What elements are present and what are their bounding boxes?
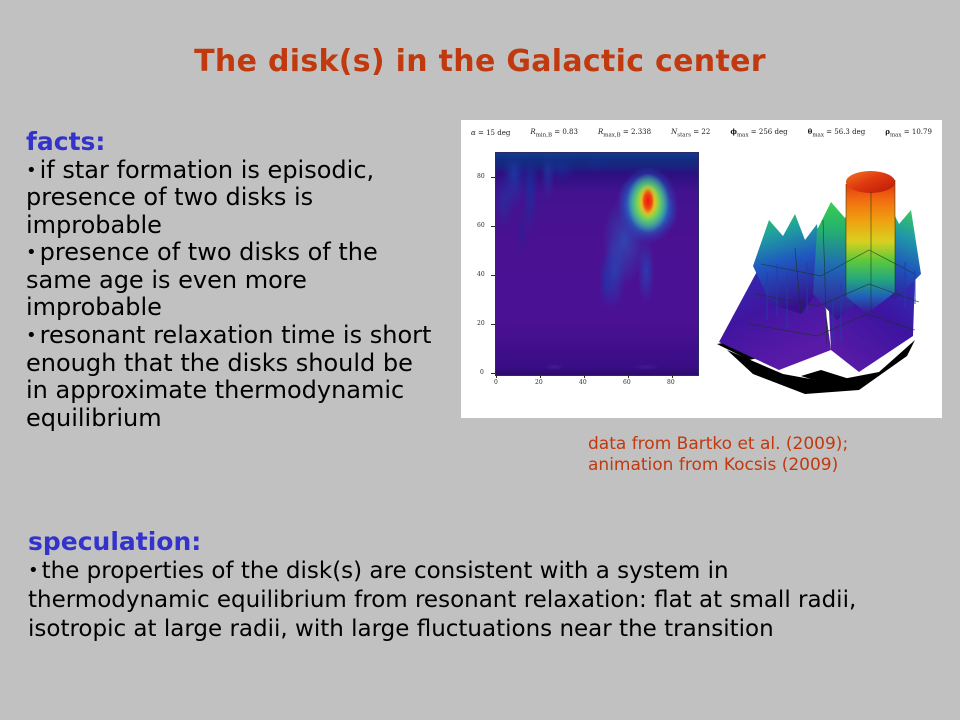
surface-peak-cap xyxy=(846,171,895,193)
parameter-value: 256 deg xyxy=(759,128,788,136)
parameter-subscript: max xyxy=(812,133,824,139)
parameter-nstars: Nstars = 22 xyxy=(671,128,710,138)
parameter-value: 10.79 xyxy=(912,128,932,136)
heatmap-bottom-ripple xyxy=(496,153,698,375)
parameter-subscript: max xyxy=(737,133,749,139)
page-title: The disk(s) in the Galactic center xyxy=(0,44,960,79)
x-tick-mark xyxy=(496,374,497,378)
parameter-subscript: max,B xyxy=(603,132,620,138)
caption-line-1: data from Bartko et al. (2009); xyxy=(588,434,918,455)
parameter-subscript: min,B xyxy=(536,132,552,138)
y-tick-mark xyxy=(491,373,495,374)
y-tick-label: 60 xyxy=(477,222,485,229)
parameter-symbol: α xyxy=(471,129,476,137)
x-tick-mark xyxy=(540,374,541,378)
x-tick-label: 40 xyxy=(579,379,587,386)
list-item: •presence of two disks of the same age i… xyxy=(26,239,436,322)
bullet-icon: • xyxy=(28,560,42,581)
speculation-bullet-list: •the properties of the disk(s) are consi… xyxy=(28,557,888,645)
speculation-heading: speculation: xyxy=(28,528,888,556)
parameter-thetamax: θmax = 56.3 deg xyxy=(808,127,866,138)
x-tick-label: 60 xyxy=(623,379,631,386)
parameter-rhomax: ρmax = 10.79 xyxy=(885,127,932,138)
heatmap-plot-area xyxy=(495,152,699,376)
surface-plot-svg xyxy=(709,144,937,410)
parameter-subscript: max xyxy=(890,133,902,139)
bullet-icon: • xyxy=(26,325,40,346)
x-tick-label: 80 xyxy=(667,379,675,386)
parameter-alpha: α = 15 deg xyxy=(471,129,510,137)
figure-caption: data from Bartko et al. (2009); animatio… xyxy=(588,434,918,477)
parameter-rmax: Rmax,B = 2.338 xyxy=(598,128,651,138)
parameter-value: 22 xyxy=(701,128,710,136)
density-heatmap: 0 20 40 60 80 0 20 40 60 80 xyxy=(474,148,706,406)
y-tick-label: 0 xyxy=(480,369,484,376)
y-tick-label: 40 xyxy=(477,271,485,278)
facts-bullet-list: •if star formation is episodic, presence… xyxy=(26,157,436,433)
surface-plot-3d xyxy=(709,144,937,410)
y-tick-mark xyxy=(491,177,495,178)
parameter-phimax: ϕmax = 256 deg xyxy=(730,127,787,138)
y-tick-label: 80 xyxy=(477,173,485,180)
y-tick-mark xyxy=(491,324,495,325)
x-tick-label: 20 xyxy=(535,379,543,386)
speculation-section: speculation: •the properties of the disk… xyxy=(28,528,888,645)
facts-section: facts: •if star formation is episodic, p… xyxy=(26,128,436,432)
caption-line-2: animation from Kocsis (2009) xyxy=(588,455,918,476)
list-item: •the properties of the disk(s) are consi… xyxy=(28,557,888,645)
x-tick-mark xyxy=(672,374,673,378)
parameter-rmin: Rmin,B = 0.83 xyxy=(530,128,578,138)
list-item-text: presence of two disks of the same age is… xyxy=(26,238,378,321)
surface-peak-column xyxy=(846,180,895,314)
list-item: •resonant relaxation time is short enoug… xyxy=(26,322,436,432)
figure-panel: α = 15 deg Rmin,B = 0.83 Rmax,B = 2.338 … xyxy=(461,120,942,418)
parameter-value: 0.83 xyxy=(562,128,578,136)
bullet-icon: • xyxy=(26,160,40,181)
parameter-value: 2.338 xyxy=(631,128,651,136)
parameter-symbol: ϕ xyxy=(730,127,737,136)
facts-heading: facts: xyxy=(26,128,436,156)
y-tick-label: 20 xyxy=(477,320,485,327)
x-tick-mark xyxy=(628,374,629,378)
parameter-value: 56.3 deg xyxy=(834,128,865,136)
parameter-subscript: stars xyxy=(677,132,691,138)
parameter-value: 15 deg xyxy=(486,129,510,137)
bullet-icon: • xyxy=(26,242,40,263)
list-item-text: the properties of the disk(s) are consis… xyxy=(28,558,856,643)
figure-parameter-bar: α = 15 deg Rmin,B = 0.83 Rmax,B = 2.338 … xyxy=(461,125,942,141)
x-tick-mark xyxy=(584,374,585,378)
list-item: •if star formation is episodic, presence… xyxy=(26,157,436,240)
y-tick-mark xyxy=(491,226,495,227)
list-item-text: resonant relaxation time is short enough… xyxy=(26,321,431,432)
x-tick-label: 0 xyxy=(494,379,498,386)
y-tick-mark xyxy=(491,275,495,276)
list-item-text: if star formation is episodic, presence … xyxy=(26,156,374,239)
